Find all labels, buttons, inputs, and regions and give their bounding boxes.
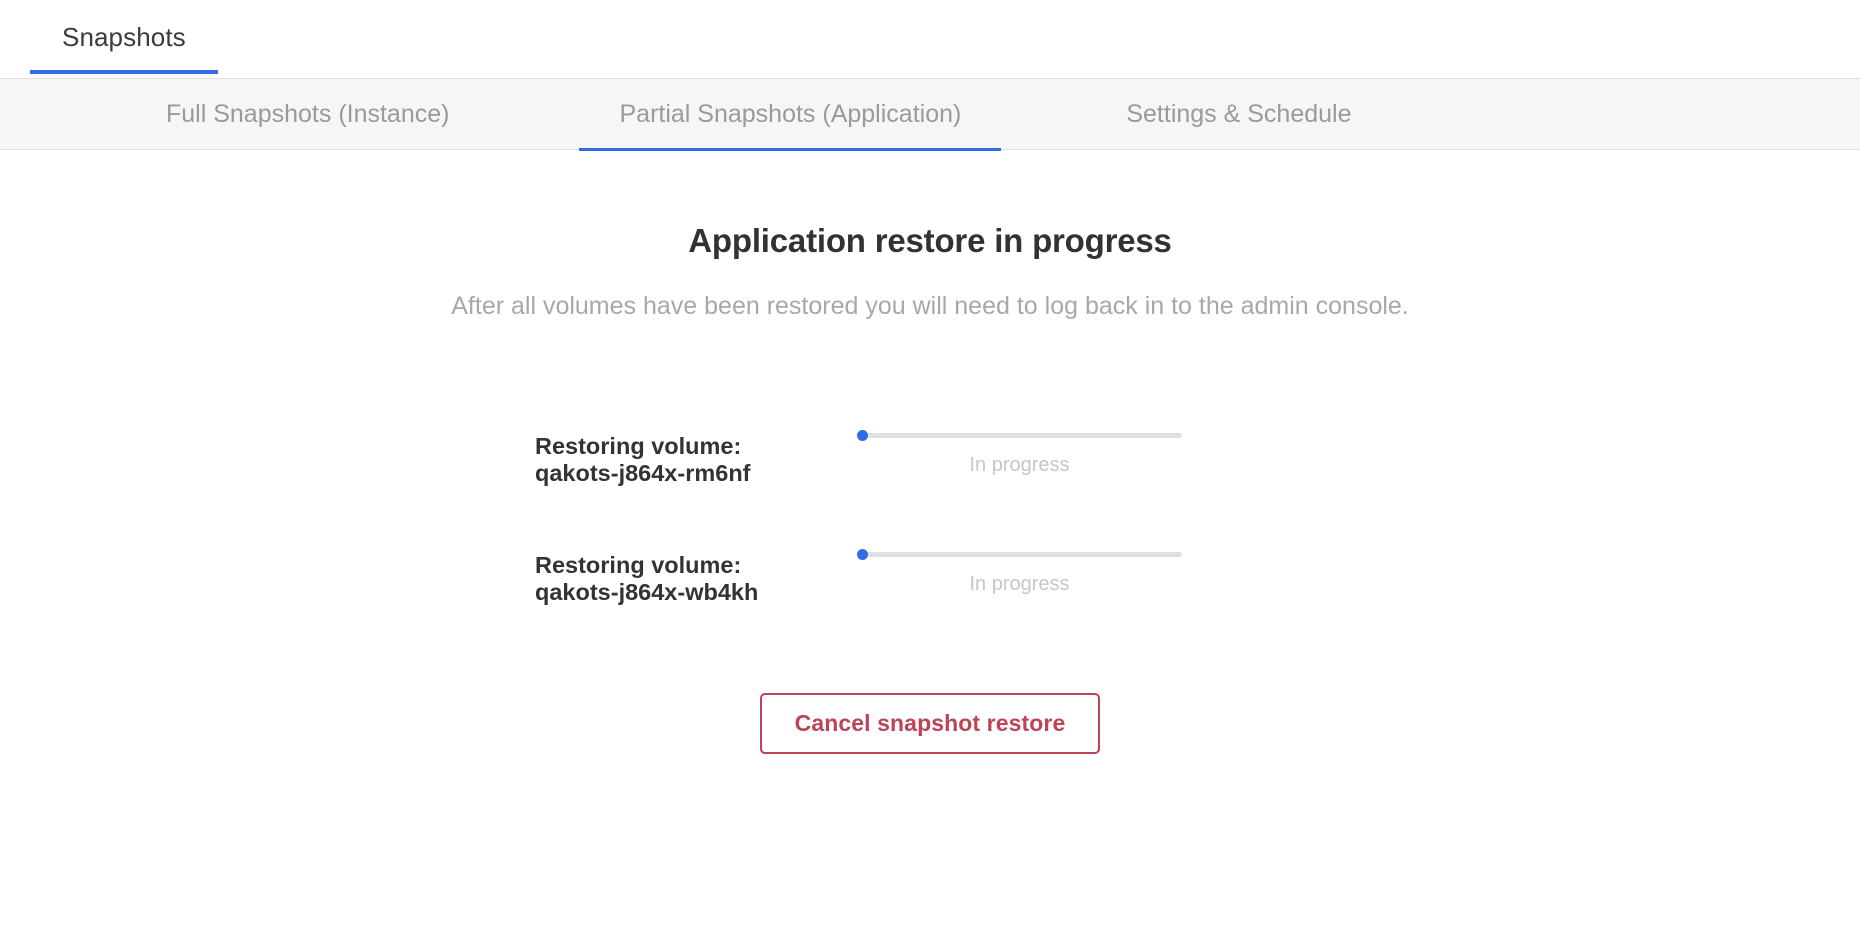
sub-tab-full-snapshots[interactable]: Full Snapshots (Instance) <box>126 78 489 150</box>
restore-progress: In progress <box>857 425 1325 477</box>
restore-progress-list: Restoring volume: qakots-j864x-rm6nf In … <box>535 321 1325 607</box>
top-tab-snapshots[interactable]: Snapshots <box>30 0 218 74</box>
restore-label-prefix: Restoring volume: <box>535 552 741 578</box>
page-title: Application restore in progress <box>0 210 1860 260</box>
restore-row: Restoring volume: qakots-j864x-rm6nf In … <box>535 425 1325 488</box>
cancel-snapshot-restore-button[interactable]: Cancel snapshot restore <box>760 693 1101 754</box>
sub-tab-settings-schedule[interactable]: Settings & Schedule <box>1086 78 1391 150</box>
progress-status-text: In progress <box>857 438 1182 477</box>
progress-track <box>857 433 1182 438</box>
progress-dot-icon <box>857 430 868 441</box>
progress-status-text: In progress <box>857 557 1182 596</box>
sub-tab-partial-snapshots-label: Partial Snapshots (Application) <box>619 100 961 129</box>
top-tab-snapshots-underline <box>30 70 218 74</box>
top-navigation-tabs: nt Snapshots <box>0 0 218 74</box>
sub-tab-full-snapshots-label: Full Snapshots (Instance) <box>166 100 449 129</box>
restore-label-prefix: Restoring volume: <box>535 433 741 459</box>
page-subtitle: After all volumes have been restored you… <box>0 260 1860 321</box>
sub-tab-partial-snapshots-underline <box>579 148 1001 151</box>
top-tab-snapshots-label: Snapshots <box>62 22 186 53</box>
sub-navigation: Full Snapshots (Instance) Partial Snapsh… <box>0 78 1860 150</box>
restore-volume-name: qakots-j864x-rm6nf <box>535 460 751 486</box>
restore-volume-name: qakots-j864x-wb4kh <box>535 579 758 605</box>
sub-tab-settings-schedule-label: Settings & Schedule <box>1126 100 1351 129</box>
restore-progress: In progress <box>857 544 1325 596</box>
top-navigation: nt Snapshots <box>0 0 1860 78</box>
sub-tab-partial-snapshots[interactable]: Partial Snapshots (Application) <box>579 78 1001 150</box>
top-tab-clipped[interactable]: nt <box>0 0 8 74</box>
restore-row: Restoring volume: qakots-j864x-wb4kh In … <box>535 544 1325 607</box>
restore-volume-label: Restoring volume: qakots-j864x-rm6nf <box>535 425 857 488</box>
restore-volume-label: Restoring volume: qakots-j864x-wb4kh <box>535 544 857 607</box>
progress-track <box>857 552 1182 557</box>
main-content: Application restore in progress After al… <box>0 150 1860 754</box>
action-row: Cancel snapshot restore <box>0 663 1860 754</box>
progress-dot-icon <box>857 549 868 560</box>
